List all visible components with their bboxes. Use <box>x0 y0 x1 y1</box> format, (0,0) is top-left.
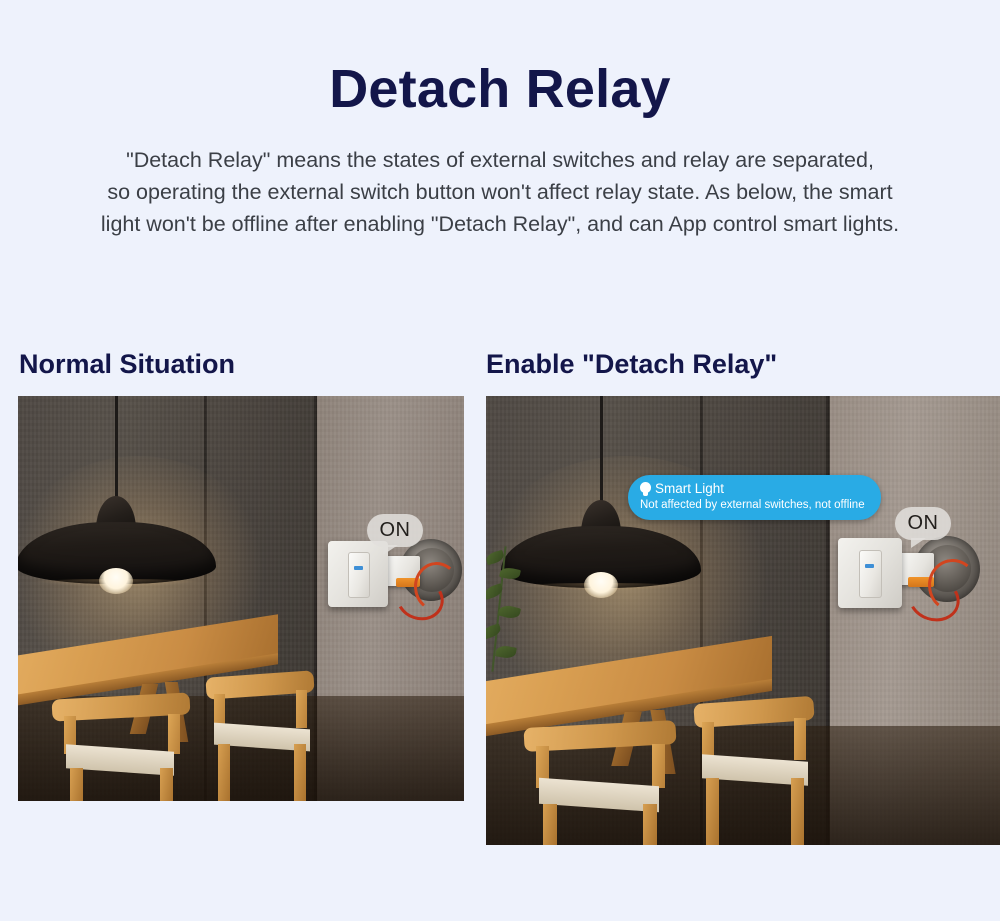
lamp-cord <box>115 396 118 504</box>
bulb-base <box>643 492 648 496</box>
page-description: "Detach Relay" means the states of exter… <box>30 144 970 240</box>
bulb-glass <box>640 482 651 493</box>
chair-2-leg-right <box>791 778 804 845</box>
callout-subtitle: Not affected by external switches, not o… <box>640 498 865 513</box>
chair-2-leg-left <box>706 778 719 845</box>
lamp-bulb <box>99 568 133 594</box>
status-bubble-on: ON <box>895 507 951 540</box>
switch-rocker <box>348 552 370 598</box>
page-title: Detach Relay <box>0 62 1000 116</box>
switch-led <box>354 566 363 570</box>
chair-1-leg-left <box>543 804 557 845</box>
chair-1-post-right <box>168 714 180 754</box>
chair-2-post-right <box>794 718 806 760</box>
callout-title: Smart Light <box>655 481 724 497</box>
plant-leaf-6 <box>495 644 517 659</box>
status-bubble-on: ON <box>367 514 423 547</box>
detach-relay-heading: Enable "Detach Relay" <box>486 349 777 380</box>
plant-leaf-4 <box>498 604 521 621</box>
description-line-1: "Detach Relay" means the states of exter… <box>30 144 970 176</box>
plant-leaf-3 <box>486 583 504 600</box>
smart-light-callout: Smart Light Not affected by external swi… <box>628 475 881 520</box>
normal-situation-heading: Normal Situation <box>19 349 235 380</box>
switch-led <box>865 564 874 568</box>
switch-rocker <box>859 550 882 598</box>
chair-1-leg-right <box>643 804 657 845</box>
description-line-2: so operating the external switch button … <box>30 176 970 208</box>
normal-situation-image: ON <box>18 396 464 801</box>
chair-2-post-right <box>296 690 307 728</box>
plant-leaves-icon <box>486 546 526 676</box>
lamp-cord <box>600 396 603 508</box>
chair-2-leg-left <box>218 744 230 801</box>
chair-1-leg-right <box>160 768 173 801</box>
chair-1-post-right <box>652 744 665 788</box>
detach-relay-image: ON Smart Light Not affected by external … <box>486 396 1000 845</box>
description-line-3: light won't be offline after enabling "D… <box>30 208 970 240</box>
light-bulb-icon <box>640 482 651 497</box>
chair-1-leg-left <box>70 768 83 801</box>
pendant-lamp-icon <box>18 396 226 566</box>
callout-title-row: Smart Light <box>640 481 865 497</box>
lamp-bulb <box>584 572 618 598</box>
chair-2-leg-right <box>294 744 306 801</box>
